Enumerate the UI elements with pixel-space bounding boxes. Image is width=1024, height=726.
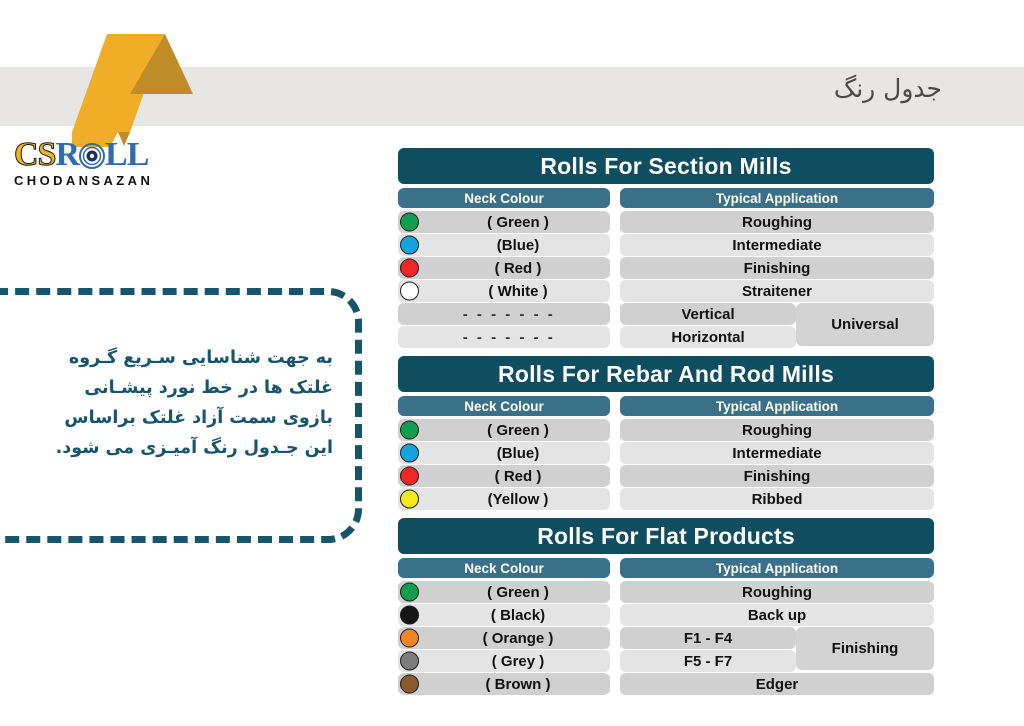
colour-label: ( Green ) bbox=[459, 214, 549, 231]
colour-label: ( Red ) bbox=[467, 260, 542, 277]
neck-colour-cell: ( Grey ) bbox=[398, 650, 610, 672]
column-header-typical-application: Typical Application bbox=[620, 558, 934, 578]
logo-r-text: R bbox=[55, 136, 79, 173]
neck-colour-cell: (Blue) bbox=[398, 442, 610, 464]
colour-swatch-icon bbox=[400, 583, 419, 602]
color-tables: Rolls For Section MillsNeck ColourTypica… bbox=[398, 148, 934, 703]
table-header-row: Neck ColourTypical Application bbox=[398, 396, 934, 416]
typical-application-cell: Roughing bbox=[620, 581, 934, 603]
table-row: ( Brown )Edger bbox=[398, 673, 934, 695]
merged-application-cell: Finishing bbox=[796, 627, 934, 670]
colour-label: ( Red ) bbox=[467, 468, 542, 485]
colour-label: ( Orange ) bbox=[455, 630, 554, 647]
typical-application-cell: Straitener bbox=[620, 280, 934, 302]
colour-label: - - - - - - - bbox=[453, 306, 555, 323]
column-header-typical-application: Typical Application bbox=[620, 188, 934, 208]
table-row: ( Red )Finishing bbox=[398, 465, 934, 487]
colour-label: - - - - - - - bbox=[453, 329, 555, 346]
colour-label: (Blue) bbox=[469, 237, 540, 254]
table-row: ( White )Straitener bbox=[398, 280, 934, 302]
roll-table: Rolls For Flat ProductsNeck ColourTypica… bbox=[398, 518, 934, 695]
typical-application-cell: Back up bbox=[620, 604, 934, 626]
table-row: ( Red )Finishing bbox=[398, 257, 934, 279]
colour-swatch-icon bbox=[400, 606, 419, 625]
logo-wordmark: CSR LL bbox=[14, 138, 199, 172]
roll-table: Rolls For Rebar And Rod MillsNeck Colour… bbox=[398, 356, 934, 510]
table-row: ( Black)Back up bbox=[398, 604, 934, 626]
colour-swatch-icon bbox=[400, 259, 419, 278]
table-title: Rolls For Section Mills bbox=[398, 148, 934, 184]
colour-swatch-icon bbox=[400, 490, 419, 509]
logo-ll-text: LL bbox=[105, 136, 148, 173]
colour-label: ( White ) bbox=[460, 283, 547, 300]
neck-colour-cell: - - - - - - - bbox=[398, 326, 610, 348]
table-row: (Yellow )Ribbed bbox=[398, 488, 934, 510]
table-title: Rolls For Flat Products bbox=[398, 518, 934, 554]
column-header-neck-colour: Neck Colour bbox=[398, 558, 610, 578]
column-header-typical-application: Typical Application bbox=[620, 396, 934, 416]
typical-application-cell: Ribbed bbox=[620, 488, 934, 510]
typical-application-cell: Intermediate bbox=[620, 442, 934, 464]
colour-swatch-icon bbox=[400, 629, 419, 648]
info-callout-text: به جهت شناسایی سـریع گـروه غلتک ها در خط… bbox=[33, 343, 333, 463]
neck-colour-cell: (Blue) bbox=[398, 234, 610, 256]
page-title: جدول رنگ bbox=[834, 74, 942, 103]
neck-colour-cell: ( Green ) bbox=[398, 211, 610, 233]
colour-swatch-icon bbox=[400, 467, 419, 486]
neck-colour-cell: ( Green ) bbox=[398, 419, 610, 441]
neck-colour-cell: ( Green ) bbox=[398, 581, 610, 603]
neck-colour-cell: ( Black) bbox=[398, 604, 610, 626]
brand-logo: CSR LL CHODANSAZAN bbox=[14, 138, 199, 196]
column-header-neck-colour: Neck Colour bbox=[398, 396, 610, 416]
table-body: ( Green )Roughing(Blue)Intermediate( Red… bbox=[398, 211, 934, 348]
table-body: ( Green )Roughing( Black)Back up( Orange… bbox=[398, 581, 934, 695]
typical-application-cell: Intermediate bbox=[620, 234, 934, 256]
neck-colour-cell: ( White ) bbox=[398, 280, 610, 302]
gold-ribbon-icon bbox=[60, 18, 230, 150]
table-row: ( Green )Roughing bbox=[398, 211, 934, 233]
neck-colour-cell: ( Red ) bbox=[398, 465, 610, 487]
colour-swatch-icon bbox=[400, 444, 419, 463]
neck-colour-cell: (Yellow ) bbox=[398, 488, 610, 510]
typical-application-cell: Roughing bbox=[620, 419, 934, 441]
colour-label: ( Green ) bbox=[459, 422, 549, 439]
table-header-row: Neck ColourTypical Application bbox=[398, 558, 934, 578]
typical-application-cell: Horizontal bbox=[620, 326, 796, 348]
neck-colour-cell: - - - - - - - bbox=[398, 303, 610, 325]
colour-swatch-icon bbox=[400, 652, 419, 671]
colour-swatch-icon bbox=[400, 236, 419, 255]
typical-application-cell: Finishing bbox=[620, 465, 934, 487]
logo-cs-text: CS bbox=[14, 136, 55, 173]
colour-label: (Blue) bbox=[469, 445, 540, 462]
colour-label: ( Green ) bbox=[459, 584, 549, 601]
table-row: ( Green )Roughing bbox=[398, 581, 934, 603]
table-body: ( Green )Roughing(Blue)Intermediate( Red… bbox=[398, 419, 934, 510]
typical-application-cell: Vertical bbox=[620, 303, 796, 325]
typical-application-cell: F5 - F7 bbox=[620, 650, 796, 672]
colour-swatch-icon bbox=[400, 282, 419, 301]
info-callout-box: به جهت شناسایی سـریع گـروه غلتک ها در خط… bbox=[0, 288, 362, 543]
colour-label: ( Black) bbox=[463, 607, 545, 624]
typical-application-cell: Roughing bbox=[620, 211, 934, 233]
neck-colour-cell: ( Red ) bbox=[398, 257, 610, 279]
table-row: (Blue)Intermediate bbox=[398, 234, 934, 256]
table-header-row: Neck ColourTypical Application bbox=[398, 188, 934, 208]
colour-label: (Yellow ) bbox=[460, 491, 549, 508]
colour-label: ( Brown ) bbox=[458, 676, 551, 693]
table-row: ( Green )Roughing bbox=[398, 419, 934, 441]
neck-colour-cell: ( Brown ) bbox=[398, 673, 610, 695]
merged-application-cell: Universal bbox=[796, 303, 934, 346]
typical-application-cell: Finishing bbox=[620, 257, 934, 279]
colour-swatch-icon bbox=[400, 213, 419, 232]
table-title: Rolls For Rebar And Rod Mills bbox=[398, 356, 934, 392]
eye-icon bbox=[79, 142, 105, 168]
colour-swatch-icon bbox=[400, 675, 419, 694]
table-row: (Blue)Intermediate bbox=[398, 442, 934, 464]
column-header-neck-colour: Neck Colour bbox=[398, 188, 610, 208]
roll-table: Rolls For Section MillsNeck ColourTypica… bbox=[398, 148, 934, 348]
typical-application-cell: F1 - F4 bbox=[620, 627, 796, 649]
slide-canvas: جدول رنگ CSR LL CHODANSAZAN به جهت شناسا… bbox=[0, 0, 1024, 726]
neck-colour-cell: ( Orange ) bbox=[398, 627, 610, 649]
logo-subtitle: CHODANSAZAN bbox=[14, 173, 199, 188]
colour-swatch-icon bbox=[400, 421, 419, 440]
colour-label: ( Grey ) bbox=[464, 653, 545, 670]
typical-application-cell: Edger bbox=[620, 673, 934, 695]
